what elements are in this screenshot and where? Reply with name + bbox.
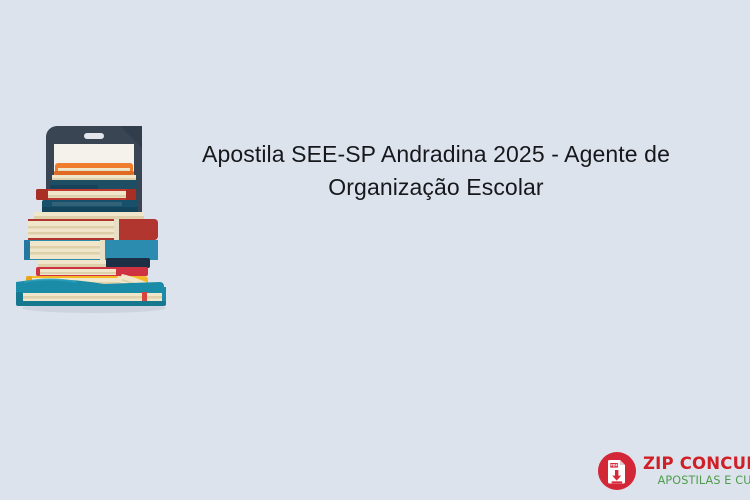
brand-tagline: APOSTILAS E CURSOS — [643, 475, 750, 486]
brand-name: ZIP CONCURSOS — [643, 456, 750, 473]
book-red-lower — [36, 267, 148, 276]
book-blue-large — [24, 240, 158, 260]
page-title: Apostila SEE-SP Andradina 2025 - Agente … — [182, 138, 690, 204]
book-orange-top — [54, 163, 134, 175]
book-red-upper — [36, 189, 136, 200]
book-teal-bottom — [16, 279, 166, 306]
brand-wordmark: ZIP CONCURSOS APOSTILAS E CURSOS — [643, 456, 750, 487]
pdf-download-icon: PDF — [598, 452, 636, 490]
book-pages-wide — [34, 212, 144, 219]
product-banner-card: Apostila SEE-SP Andradina 2025 - Agente … — [0, 0, 750, 500]
svg-text:PDF: PDF — [610, 464, 618, 468]
page-title-block: Apostila SEE-SP Andradina 2025 - Agente … — [182, 138, 690, 204]
brand-logo[interactable]: PDF ZIP CONCURSOS APOSTILAS E CURSOS — [598, 450, 736, 492]
tablet-with-book-stack-illustration — [10, 122, 176, 318]
book-darkteal — [42, 200, 138, 212]
book-navy-upper — [50, 175, 138, 189]
book-brickred-large — [28, 219, 158, 240]
